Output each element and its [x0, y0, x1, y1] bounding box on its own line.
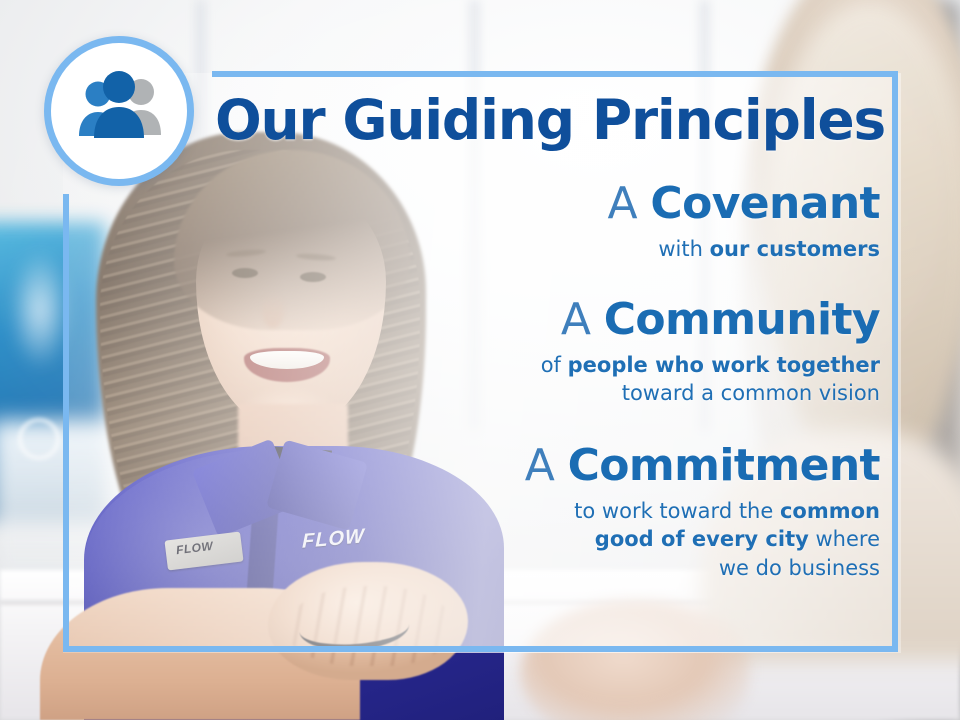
- principle-community-word: Community: [604, 294, 880, 345]
- principle-commitment: A Commitment to work toward the commongo…: [300, 440, 880, 583]
- detail-line: we do business: [300, 554, 880, 583]
- page-title: Our Guiding Principles: [210, 92, 890, 149]
- principle-covenant-title: A Covenant: [300, 178, 880, 229]
- principle-covenant-detail: with our customers: [300, 235, 880, 264]
- frame-border-bottom: [63, 646, 898, 652]
- frame-border-right: [892, 71, 898, 652]
- associate-eye-left: [232, 268, 258, 278]
- principle-commitment-word: Commitment: [568, 440, 880, 491]
- principles-list: A Covenant with our customers A Communit…: [300, 178, 880, 588]
- detail-line: to work toward the common: [300, 497, 880, 526]
- principle-community: A Community of people who work togethert…: [300, 294, 880, 408]
- principle-commitment-article: A: [525, 440, 555, 491]
- principle-covenant-article: A: [607, 178, 637, 229]
- principle-community-article: A: [561, 294, 591, 345]
- detail-line: good of every city where: [300, 525, 880, 554]
- detail-line: of people who work together: [300, 351, 880, 380]
- people-group-icon: [70, 62, 170, 162]
- frame-border-left: [63, 194, 69, 652]
- guiding-principles-graphic: FLOW FLOW Our Guiding Principles A: [0, 0, 960, 720]
- detail-line: toward a common vision: [300, 379, 880, 408]
- principle-community-title: A Community: [300, 294, 880, 345]
- associate-nose: [262, 292, 284, 328]
- principle-covenant: A Covenant with our customers: [300, 178, 880, 264]
- detail-line: with our customers: [300, 235, 880, 264]
- principle-community-detail: of people who work togethertoward a comm…: [300, 351, 880, 408]
- principle-covenant-word: Covenant: [650, 178, 880, 229]
- principle-commitment-title: A Commitment: [300, 440, 880, 491]
- frame-border-top: [212, 71, 898, 77]
- principle-commitment-detail: to work toward the commongood of every c…: [300, 497, 880, 583]
